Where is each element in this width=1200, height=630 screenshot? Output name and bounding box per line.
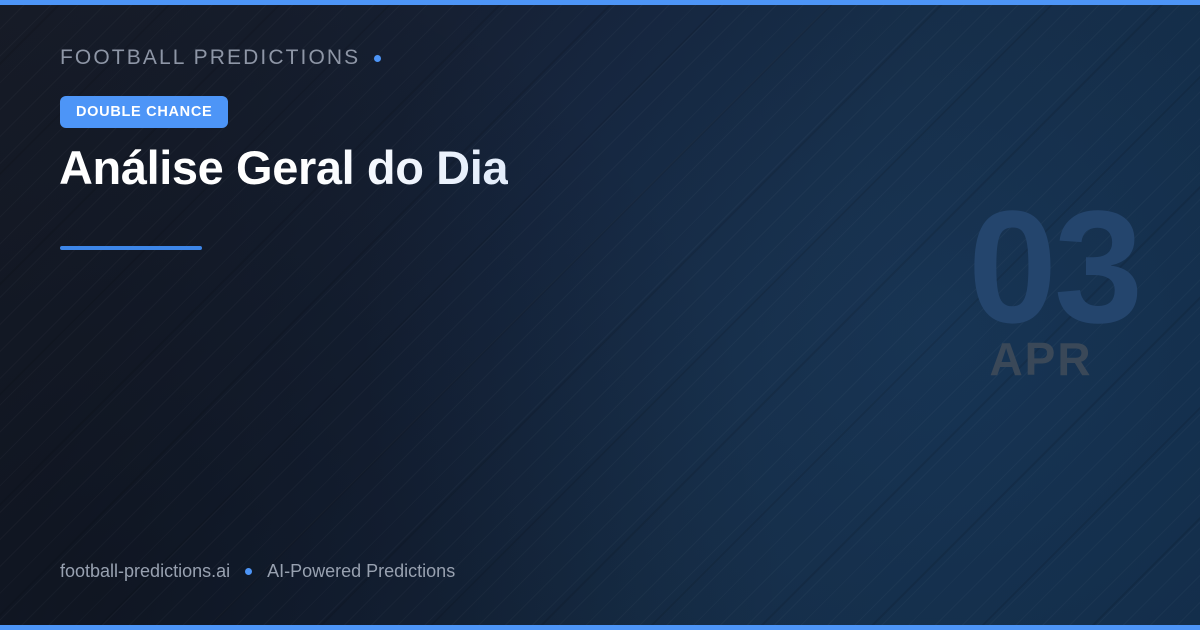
bottom-accent-bar bbox=[0, 625, 1200, 630]
date-day: 03 bbox=[968, 205, 1140, 330]
kicker-label: FOOTBALL PREDICTIONS bbox=[60, 46, 360, 70]
accent-underline bbox=[60, 246, 202, 250]
bullet-dot-icon bbox=[245, 568, 252, 575]
card-content: FOOTBALL PREDICTIONS DOUBLE CHANCE Análi… bbox=[0, 0, 1200, 630]
date-watermark: 03 APR bbox=[968, 205, 1140, 382]
date-month: APR bbox=[968, 336, 1114, 382]
bullet-dot-icon bbox=[374, 55, 381, 62]
kicker: FOOTBALL PREDICTIONS bbox=[60, 46, 381, 70]
page-title: Análise Geral do Dia bbox=[59, 139, 508, 196]
footer: football-predictions.ai AI-Powered Predi… bbox=[60, 561, 455, 582]
top-accent-bar bbox=[0, 0, 1200, 5]
footer-tagline: AI-Powered Predictions bbox=[267, 561, 455, 582]
share-card: FOOTBALL PREDICTIONS DOUBLE CHANCE Análi… bbox=[0, 0, 1200, 630]
market-badge[interactable]: DOUBLE CHANCE bbox=[60, 96, 228, 128]
footer-site-url: football-predictions.ai bbox=[60, 561, 230, 582]
